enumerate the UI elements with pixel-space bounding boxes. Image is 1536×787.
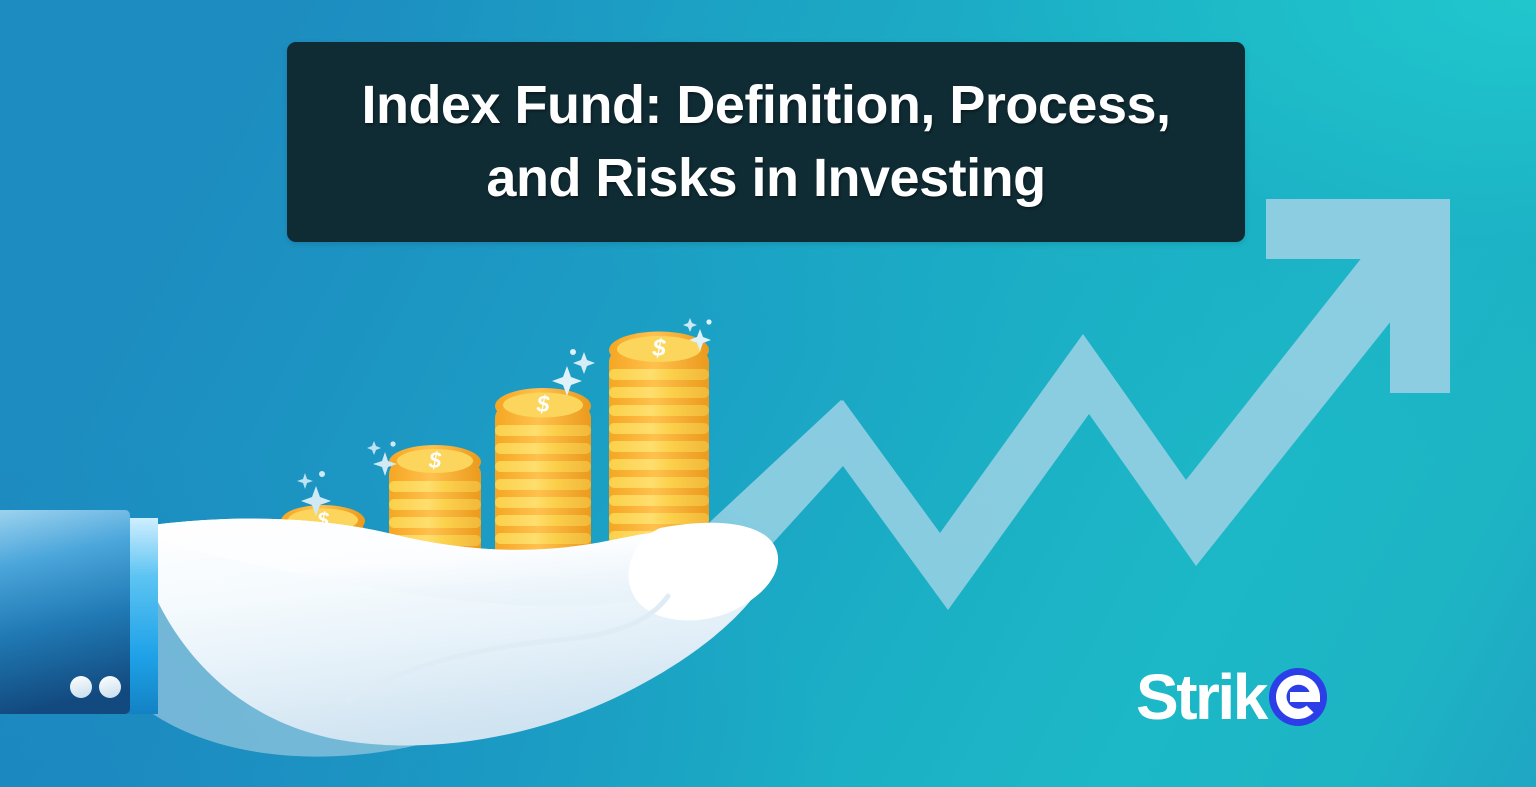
sleeve-strip [128, 518, 158, 714]
cuff-button-1 [70, 676, 92, 698]
title-line-1: Index Fund: Definition, Process, [361, 75, 1170, 135]
title-card: Index Fund: Definition, Process, and Ris… [287, 42, 1245, 242]
brand-logo[interactable]: Strik [1136, 662, 1332, 732]
logo-e-mark-icon [1258, 668, 1332, 726]
hand-fingertips [629, 523, 779, 621]
title-line-2: and Risks in Investing [486, 148, 1045, 208]
page-title: Index Fund: Definition, Process, and Ris… [325, 69, 1206, 215]
logo-wordmark: Strik [1136, 665, 1266, 729]
cuff-button-2 [99, 676, 121, 698]
banner-root: $ $ [0, 0, 1536, 787]
